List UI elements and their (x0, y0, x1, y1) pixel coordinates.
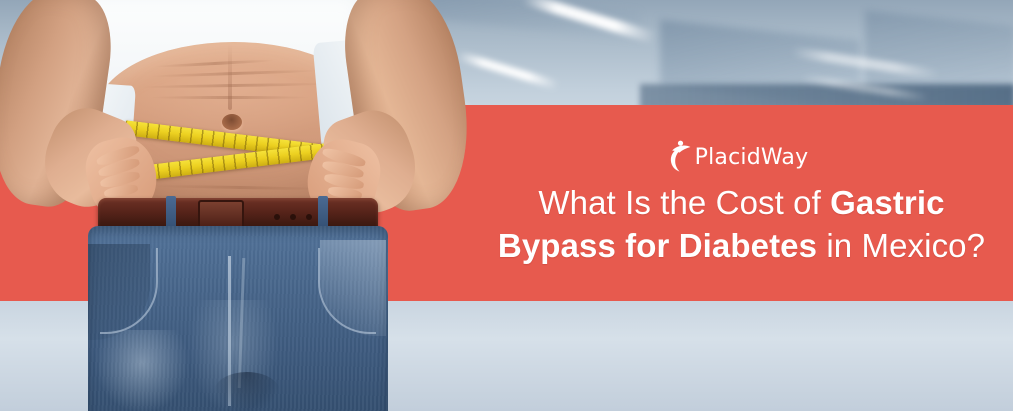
clinic-floor (0, 300, 1013, 411)
headline-line1-normal: What Is the Cost of (538, 184, 830, 221)
placidway-figure-icon (669, 138, 693, 172)
headline-line-2: Bypass for Diabetes in Mexico? (498, 225, 985, 268)
banner-root: PlacidWay What Is the Cost of Gastric By… (0, 0, 1013, 411)
headline-block: PlacidWay What Is the Cost of Gastric By… (470, 105, 1013, 301)
headline-line-1: What Is the Cost of Gastric (498, 182, 985, 225)
placidway-logo-text: PlacidWay (695, 147, 809, 169)
headline-line1-bold: Gastric (830, 184, 944, 221)
headline-line2-normal: in Mexico? (817, 227, 985, 264)
ceiling-light-icon (456, 51, 560, 91)
placidway-logo[interactable]: PlacidWay (669, 138, 809, 172)
headline-line2-bold: Bypass for Diabetes (498, 227, 817, 264)
page-title: What Is the Cost of Gastric Bypass for D… (498, 182, 985, 268)
